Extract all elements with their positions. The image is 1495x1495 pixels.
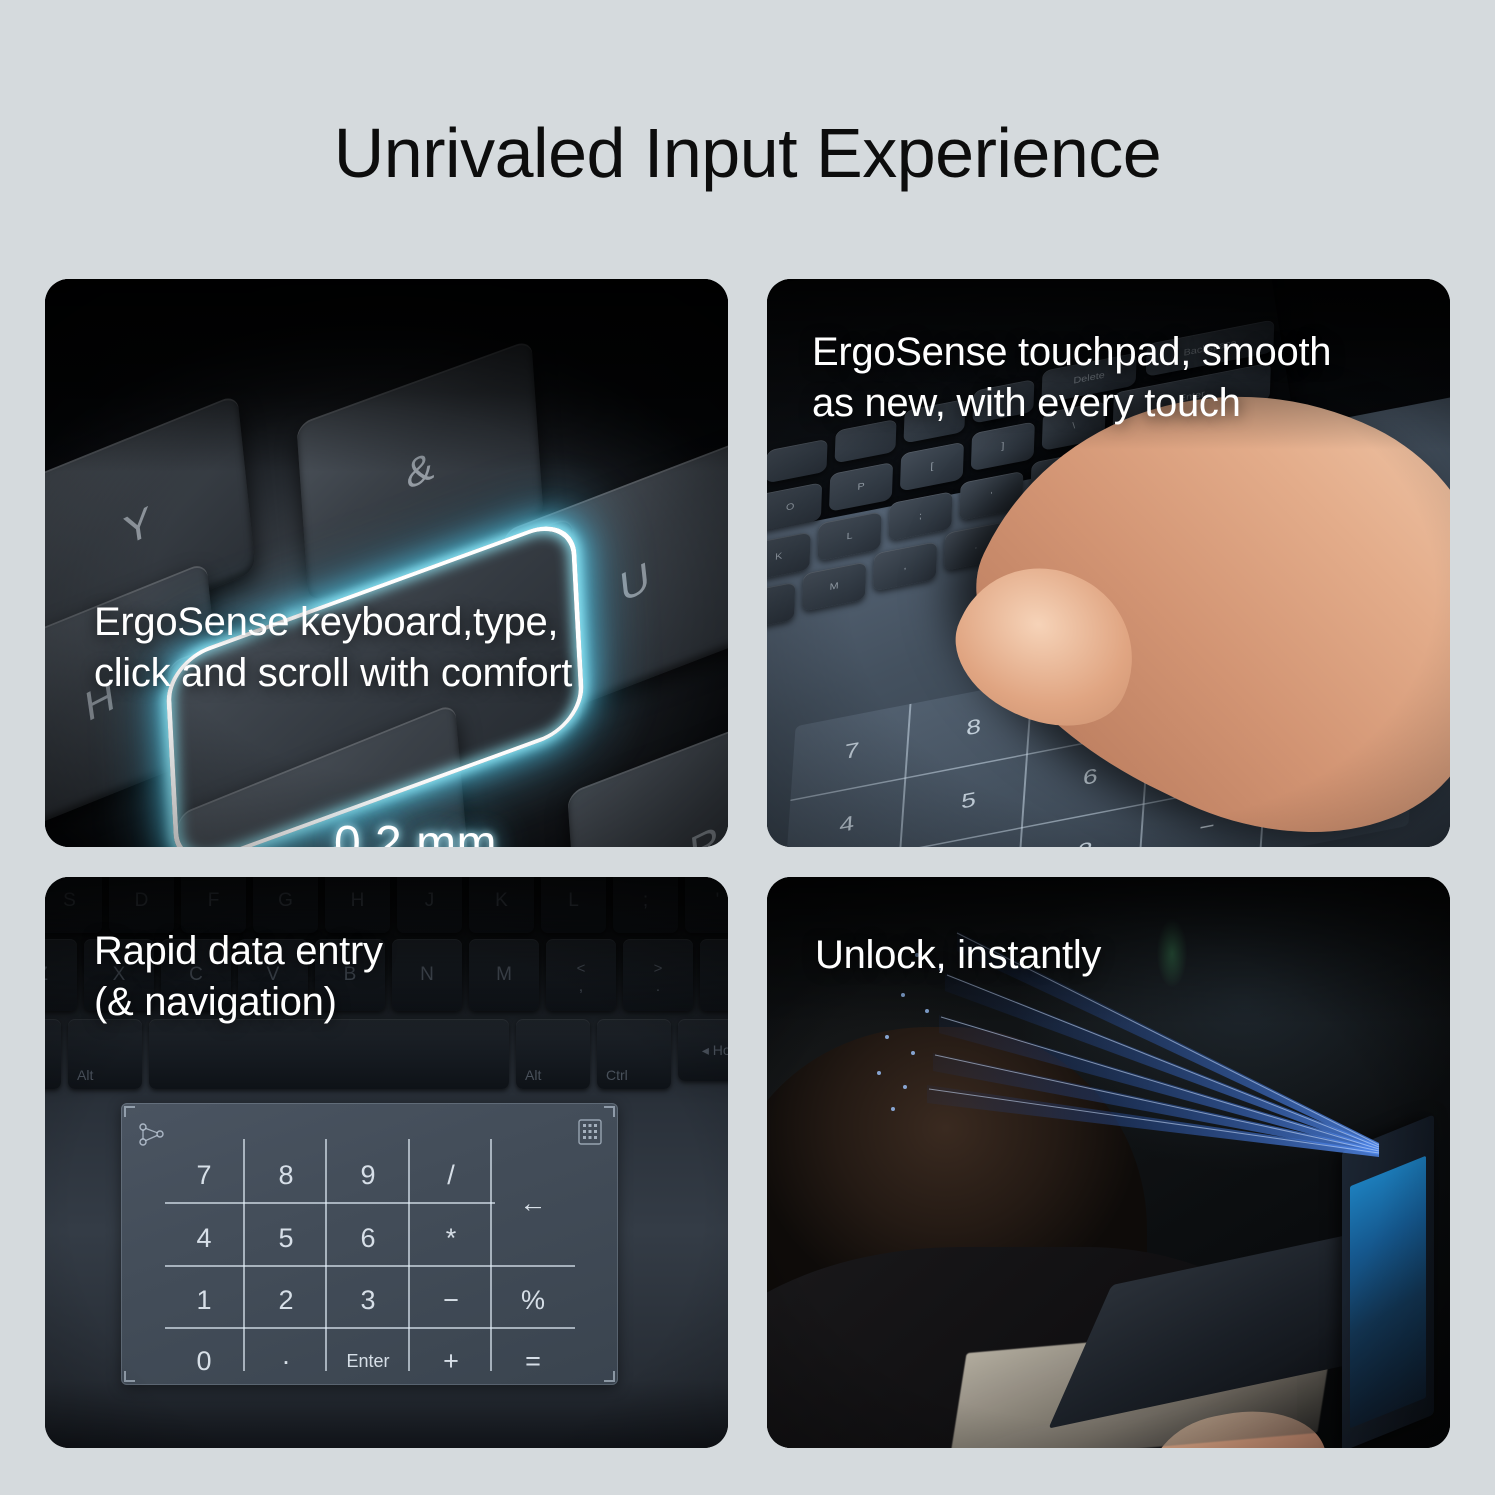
panel-face-unlock[interactable]: Unlock, instantly [767,877,1450,1448]
panel-keyboard-travel[interactable]: Y & U H M R 0.2 mm ErgoSense keyboard,ty… [45,279,728,847]
panel-touchpad-feel[interactable]: Delete Backspace O P [ ] \ Enter K L ; '… [767,279,1450,847]
panel-caption-numpad: Rapid data entry (& navigation) [94,926,383,1028]
feature-panel-grid: Y & U H M R 0.2 mm ErgoSense keyboard,ty… [45,279,1450,1448]
panel-vignette [45,279,728,847]
key-travel-measurement-label: 0.2 mm [334,816,497,847]
panel-caption-keyboard: ErgoSense keyboard,type, click and scrol… [94,597,572,699]
panel-caption-unlock: Unlock, instantly [815,930,1101,981]
page-title: Unrivaled Input Experience [0,118,1495,188]
panel-caption-touchpad: ErgoSense touchpad, smooth as new, with … [812,327,1331,429]
panel-numpad-entry[interactable]: S D F G H J K L ; ' Z X C V B N M <, [45,877,728,1448]
